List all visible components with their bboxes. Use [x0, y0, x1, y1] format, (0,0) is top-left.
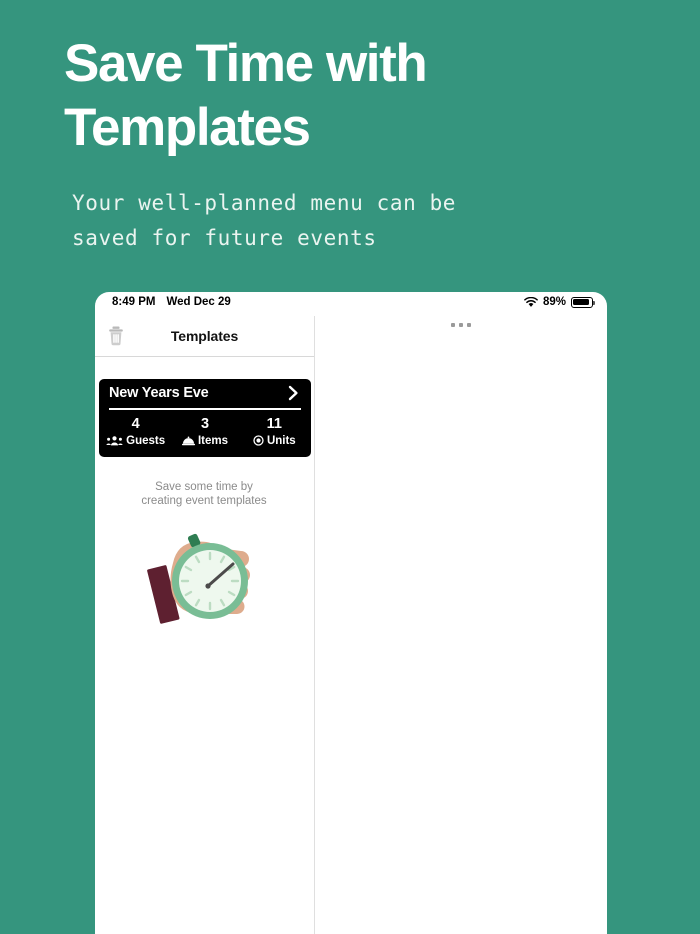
template-stats: 4 Guests: [99, 410, 311, 457]
promo-subtitle: Your well-planned menu can be saved for …: [72, 186, 632, 256]
stat-units: 11 Units: [240, 416, 309, 448]
stat-items-label-row: Items: [170, 434, 239, 448]
nav-bar: Templates: [95, 316, 314, 357]
stat-items: 3 Items: [170, 416, 239, 448]
stat-items-label: Items: [198, 434, 228, 448]
promo-title-line-2: Templates: [64, 96, 644, 160]
empty-state-message: Save some time by creating event templat…: [95, 481, 313, 508]
promo-title: Save Time with Templates: [64, 32, 644, 160]
promo-title-line-1: Save Time with: [64, 34, 426, 93]
circle-target-icon: [253, 435, 264, 446]
status-bar-date: Wed Dec 29: [166, 296, 230, 308]
empty-state-line-1: Save some time by: [95, 481, 313, 495]
template-card[interactable]: New Years Eve 4: [99, 379, 311, 457]
wifi-icon: [524, 297, 538, 308]
battery-percent-label: 89%: [543, 296, 566, 308]
stat-guests-label-row: Guests: [101, 434, 170, 448]
stat-items-value: 3: [170, 416, 239, 433]
stat-units-value: 11: [240, 416, 309, 433]
status-bar-right: 89%: [524, 296, 593, 308]
food-dome-icon: [182, 436, 195, 446]
battery-icon: [571, 297, 593, 308]
status-bar-left: 8:49 PMWed Dec 29: [112, 296, 231, 308]
page-title: Templates: [95, 328, 314, 344]
stat-units-label-row: Units: [240, 434, 309, 448]
promo-screenshot: Save Time with Templates Your well-plann…: [0, 0, 700, 934]
chevron-right-icon[interactable]: [288, 385, 299, 405]
right-pane: [315, 316, 607, 934]
guests-icon: [106, 436, 123, 446]
promo-subtitle-line-2: saved for future events: [72, 221, 632, 256]
stat-units-label: Units: [267, 434, 296, 448]
left-pane: Templates New Years Eve 4: [95, 316, 314, 934]
empty-state-line-2: creating event templates: [95, 495, 313, 509]
stat-guests-value: 4: [101, 416, 170, 433]
stat-guests-label: Guests: [126, 434, 165, 448]
template-name: New Years Eve: [109, 385, 209, 401]
multitask-handle-icon[interactable]: [451, 323, 471, 327]
status-bar: 8:49 PMWed Dec 29 89%: [95, 292, 607, 316]
hand-holding-stopwatch-illustration: [135, 521, 275, 629]
ipad-device-frame: 8:49 PMWed Dec 29 89%: [95, 292, 607, 934]
promo-subtitle-line-1: Your well-planned menu can be: [72, 186, 632, 221]
template-card-header: New Years Eve: [99, 379, 311, 408]
stat-guests: 4 Guests: [101, 416, 170, 448]
status-bar-time: 8:49 PM: [112, 296, 155, 308]
